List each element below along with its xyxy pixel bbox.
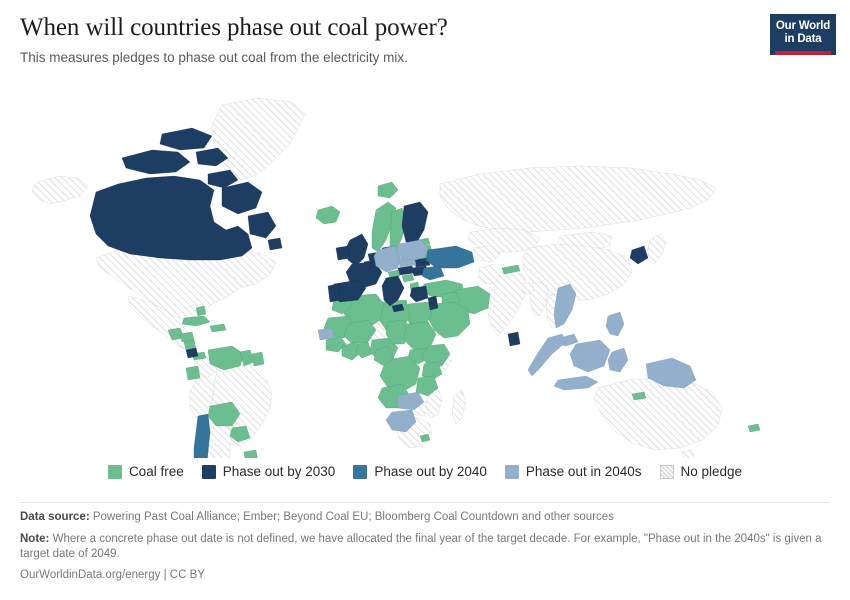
legend-swatch-by-2040	[353, 465, 367, 479]
world-map[interactable]	[0, 88, 850, 458]
page-subtitle: This measures pledges to phase out coal …	[20, 50, 830, 65]
owid-logo[interactable]: Our World in Data	[770, 14, 836, 55]
country-croatia[interactable]	[402, 274, 414, 282]
legend-item-by-2040[interactable]: Phase out by 2040	[353, 464, 487, 479]
footer-divider	[20, 502, 830, 503]
country-indonesia-sulawesi[interactable]	[608, 348, 628, 372]
legend-item-no-pledge[interactable]: No pledge	[660, 464, 743, 479]
owid-link[interactable]: OurWorldinData.org/energy | CC BY	[20, 569, 830, 581]
world-map-svg[interactable]	[0, 88, 850, 458]
data-source-label: Data source:	[20, 511, 90, 523]
owid-logo-bar	[775, 51, 831, 55]
note-text: Where a concrete phase out date is not d…	[20, 533, 822, 560]
country-indonesia-java[interactable]	[554, 376, 598, 390]
country-poland[interactable]	[396, 240, 428, 260]
country-alaska[interactable]	[32, 176, 88, 204]
country-greenland[interactable]	[212, 98, 305, 180]
country-israel[interactable]	[428, 296, 438, 310]
legend-label-no-pledge: No pledge	[681, 464, 743, 479]
country-south-korea[interactable]	[630, 246, 648, 264]
country-sri-lanka[interactable]	[508, 332, 520, 346]
country-philippines[interactable]	[606, 312, 624, 336]
legend-label-by-2040: Phase out by 2040	[374, 464, 487, 479]
country-ecuador[interactable]	[186, 366, 200, 380]
legend-swatch-no-pledge	[660, 465, 674, 479]
country-chile[interactable]	[190, 414, 210, 458]
owid-logo-line1: Our World	[775, 20, 831, 33]
country-tasmania[interactable]	[682, 450, 694, 458]
country-indonesia-borneo[interactable]	[570, 340, 610, 372]
country-suriname[interactable]	[252, 352, 264, 366]
country-finland[interactable]	[402, 202, 428, 244]
country-canada-arctic-2[interactable]	[160, 128, 212, 150]
owid-logo-line2: in Data	[775, 33, 831, 46]
country-fiji[interactable]	[748, 424, 760, 432]
legend-item-in-2040s[interactable]: Phase out in 2040s	[505, 464, 642, 479]
country-costa-rica[interactable]	[186, 348, 198, 358]
note-line: Note: Where a concrete phase out date is…	[20, 532, 830, 562]
data-source-text: Powering Past Coal Alliance; Ember; Beyo…	[90, 511, 614, 523]
note-label: Note:	[20, 533, 49, 545]
legend-item-by-2030[interactable]: Phase out by 2030	[202, 464, 336, 479]
country-russia[interactable]	[440, 166, 716, 232]
legend-item-coal-free[interactable]: Coal free	[108, 464, 184, 479]
legend-label-in-2040s: Phase out in 2040s	[526, 464, 642, 479]
country-hispaniola[interactable]	[210, 324, 226, 332]
country-canada-arctic-1[interactable]	[122, 150, 190, 174]
legend-swatch-by-2030	[202, 465, 216, 479]
country-romania[interactable]	[422, 266, 444, 280]
country-greece[interactable]	[410, 286, 428, 302]
map-legend: Coal free Phase out by 2030 Phase out by…	[0, 464, 850, 479]
country-svalbard[interactable]	[378, 182, 398, 198]
country-canada-newfoundland[interactable]	[268, 238, 282, 250]
country-japan[interactable]	[648, 234, 666, 264]
legend-swatch-coal-free	[108, 465, 122, 479]
legend-label-by-2030: Phase out by 2030	[223, 464, 336, 479]
country-uruguay[interactable]	[244, 450, 258, 458]
legend-swatch-in-2040s	[505, 465, 519, 479]
country-ireland[interactable]	[336, 246, 350, 260]
country-madagascar[interactable]	[452, 390, 466, 424]
country-ghana[interactable]	[356, 342, 372, 358]
country-ukraine[interactable]	[426, 246, 474, 268]
country-canada-baffin[interactable]	[222, 182, 262, 214]
chart-root: When will countries phase out coal power…	[0, 0, 850, 600]
country-indonesia-sumatra[interactable]	[528, 334, 566, 376]
country-united-kingdom[interactable]	[346, 234, 368, 266]
page-title: When will countries phase out coal power…	[20, 14, 830, 43]
legend-label-coal-free: Coal free	[129, 464, 184, 479]
country-canada-labrador[interactable]	[248, 212, 276, 238]
country-senegal[interactable]	[318, 328, 334, 340]
country-bahamas[interactable]	[196, 306, 206, 316]
chart-header: When will countries phase out coal power…	[0, 0, 850, 65]
country-austria[interactable]	[398, 266, 414, 275]
data-source-line: Data source: Powering Past Coal Alliance…	[20, 510, 830, 525]
country-iceland[interactable]	[316, 206, 340, 224]
country-australia[interactable]	[594, 378, 722, 450]
country-portugal[interactable]	[328, 284, 340, 302]
chart-footer: Data source: Powering Past Coal Alliance…	[20, 510, 830, 581]
